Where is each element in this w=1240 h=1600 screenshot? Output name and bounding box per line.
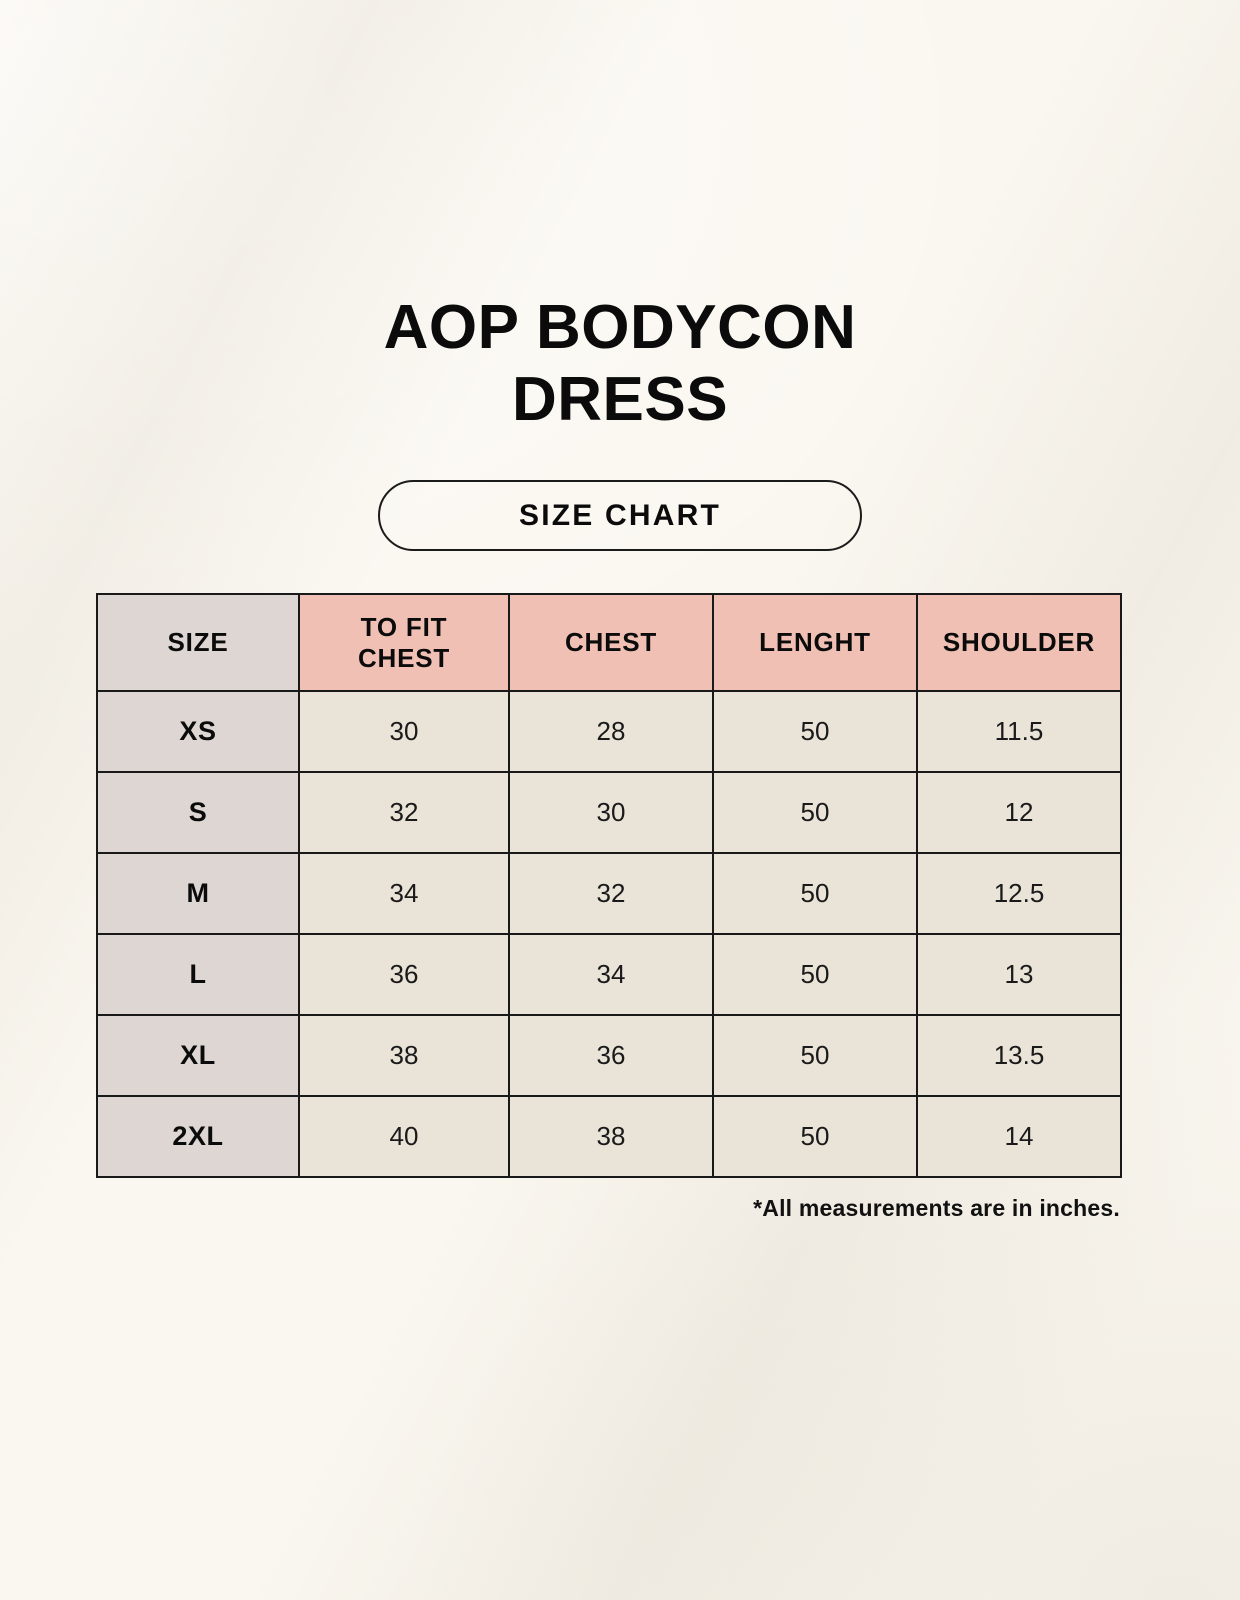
cell-size: S: [97, 772, 299, 853]
table-row: XS 30 28 50 11.5: [97, 691, 1121, 772]
cell-lenght: 50: [713, 772, 917, 853]
table-row: L 36 34 50 13: [97, 934, 1121, 1015]
size-table-body: XS 30 28 50 11.5 S 32 30 50 12 M 34 32: [97, 691, 1121, 1177]
cell-to-fit-chest: 38: [299, 1015, 509, 1096]
cell-shoulder: 12: [917, 772, 1121, 853]
size-chart-sheet: AOP BODYCON DRESS SIZE CHART SIZE TO FIT…: [0, 0, 1240, 1600]
title-line-1: AOP BODYCON: [0, 292, 1240, 364]
cell-shoulder: 14: [917, 1096, 1121, 1177]
cell-shoulder: 13: [917, 934, 1121, 1015]
cell-chest: 32: [509, 853, 713, 934]
cell-shoulder: 11.5: [917, 691, 1121, 772]
column-header-to-fit-chest: TO FIT CHEST: [299, 594, 509, 691]
table-row: M 34 32 50 12.5: [97, 853, 1121, 934]
cell-size: 2XL: [97, 1096, 299, 1177]
size-chart-badge: SIZE CHART: [378, 480, 862, 551]
table-row: S 32 30 50 12: [97, 772, 1121, 853]
size-table-container: SIZE TO FIT CHEST CHEST LENGHT SHOULDER …: [96, 593, 1120, 1178]
size-table-header: SIZE TO FIT CHEST CHEST LENGHT SHOULDER: [97, 594, 1121, 691]
table-row: 2XL 40 38 50 14: [97, 1096, 1121, 1177]
cell-size: XS: [97, 691, 299, 772]
measurements-footnote: *All measurements are in inches.: [96, 1195, 1120, 1222]
page-title: AOP BODYCON DRESS: [0, 292, 1240, 436]
cell-size: M: [97, 853, 299, 934]
cell-lenght: 50: [713, 853, 917, 934]
cell-shoulder: 12.5: [917, 853, 1121, 934]
cell-chest: 34: [509, 934, 713, 1015]
column-header-to-fit-chest-line-2: CHEST: [358, 643, 450, 673]
column-header-chest: CHEST: [509, 594, 713, 691]
cell-to-fit-chest: 30: [299, 691, 509, 772]
cell-size: L: [97, 934, 299, 1015]
column-header-to-fit-chest-line-1: TO FIT: [361, 612, 448, 642]
cell-to-fit-chest: 34: [299, 853, 509, 934]
cell-chest: 36: [509, 1015, 713, 1096]
column-header-shoulder: SHOULDER: [917, 594, 1121, 691]
cell-to-fit-chest: 32: [299, 772, 509, 853]
cell-size: XL: [97, 1015, 299, 1096]
title-line-2: DRESS: [0, 364, 1240, 436]
cell-shoulder: 13.5: [917, 1015, 1121, 1096]
size-table: SIZE TO FIT CHEST CHEST LENGHT SHOULDER …: [96, 593, 1122, 1178]
cell-chest: 30: [509, 772, 713, 853]
cell-lenght: 50: [713, 934, 917, 1015]
column-header-lenght: LENGHT: [713, 594, 917, 691]
cell-lenght: 50: [713, 691, 917, 772]
cell-to-fit-chest: 36: [299, 934, 509, 1015]
cell-chest: 38: [509, 1096, 713, 1177]
table-row: XL 38 36 50 13.5: [97, 1015, 1121, 1096]
cell-lenght: 50: [713, 1015, 917, 1096]
cell-to-fit-chest: 40: [299, 1096, 509, 1177]
cell-chest: 28: [509, 691, 713, 772]
size-chart-badge-container: SIZE CHART: [0, 480, 1240, 551]
cell-lenght: 50: [713, 1096, 917, 1177]
table-header-row: SIZE TO FIT CHEST CHEST LENGHT SHOULDER: [97, 594, 1121, 691]
column-header-size: SIZE: [97, 594, 299, 691]
